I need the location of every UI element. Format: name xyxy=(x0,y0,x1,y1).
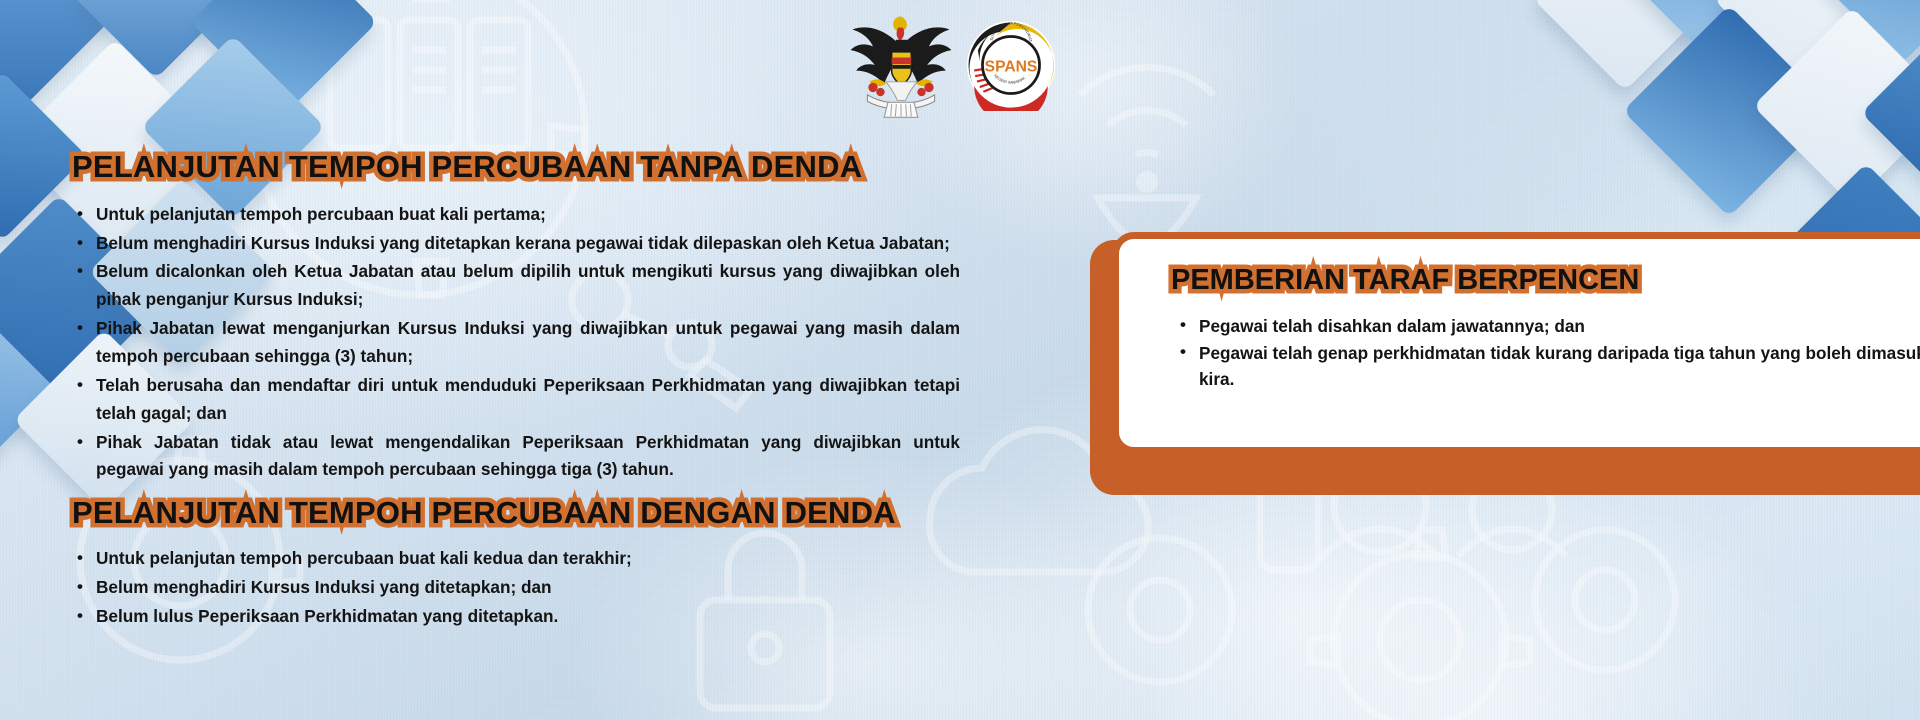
spans-logo-icon: SPANS SURUHANJAYA PERKHIDMATAN AWAM NEGE… xyxy=(965,19,1057,111)
banner-stage: SPANS SURUHANJAYA PERKHIDMATAN AWAM NEGE… xyxy=(0,0,1920,720)
card-heading: PEMBERIAN TARAF BERPENCEN xyxy=(1171,265,1639,297)
list-item: Untuk pelanjutan tempoh percubaan buat k… xyxy=(70,201,960,229)
sarawak-coat-of-arms-icon xyxy=(845,9,957,121)
left-content-column: PELANJUTAN TEMPOH PERCUBAAN TANPA DENDA … xyxy=(70,148,960,632)
section-2-heading: PELANJUTAN TEMPOH PERCUBAAN DENGAN DENDA xyxy=(70,494,898,533)
section-2-bullet-list: Untuk pelanjutan tempoh percubaan buat k… xyxy=(70,545,960,631)
list-item: Belum lulus Peperiksaan Perkhidmatan yan… xyxy=(70,603,960,631)
section-1-bullet-list: Untuk pelanjutan tempoh percubaan buat k… xyxy=(70,201,960,485)
pension-status-card: PEMBERIAN TARAF BERPENCEN Pegawai telah … xyxy=(1090,232,1920,502)
list-item: Belum menghadiri Kursus Induksi yang dit… xyxy=(70,230,960,258)
card-bullet-list: Pegawai telah disahkan dalam jawatannya;… xyxy=(1175,313,1920,393)
list-item: Pihak Jabatan lewat menganjurkan Kursus … xyxy=(70,315,960,371)
list-item: Untuk pelanjutan tempoh percubaan buat k… xyxy=(70,545,960,573)
svg-text:SPANS: SPANS xyxy=(985,58,1038,75)
list-item: Pegawai telah disahkan dalam jawatannya;… xyxy=(1175,313,1920,340)
logo-group: SPANS SURUHANJAYA PERKHIDMATAN AWAM NEGE… xyxy=(845,6,1085,124)
section-2: PELANJUTAN TEMPOH PERCUBAAN DENGAN DENDA xyxy=(70,494,960,533)
list-item: Belum dicalonkan oleh Ketua Jabatan atau… xyxy=(70,258,960,314)
list-item: Pegawai telah genap perkhidmatan tidak k… xyxy=(1175,340,1920,393)
list-item: Pihak Jabatan tidak atau lewat mengendal… xyxy=(70,429,960,485)
section-1: PELANJUTAN TEMPOH PERCUBAAN TANPA DENDA xyxy=(70,148,960,187)
card-body: PEMBERIAN TARAF BERPENCEN Pegawai telah … xyxy=(1112,232,1920,454)
section-1-heading: PELANJUTAN TEMPOH PERCUBAAN TANPA DENDA xyxy=(70,148,864,187)
list-item: Belum menghadiri Kursus Induksi yang dit… xyxy=(70,574,960,602)
list-item: Telah berusaha dan mendaftar diri untuk … xyxy=(70,372,960,428)
